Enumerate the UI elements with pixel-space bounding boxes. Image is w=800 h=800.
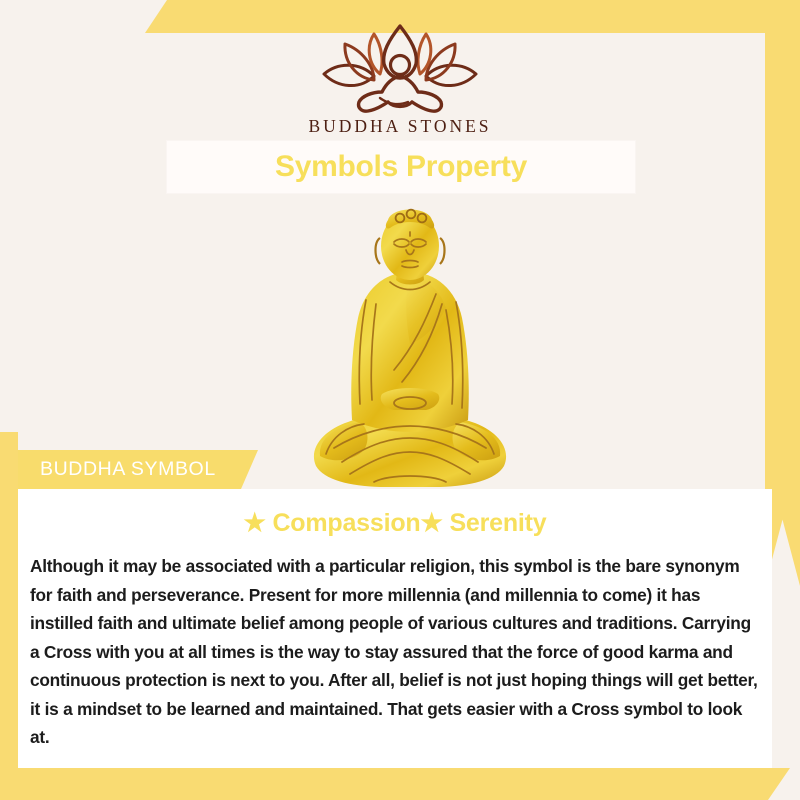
content-card: ★ Compassion★ Serenity Although it may b… [18,489,772,768]
decorative-left-bar [0,432,18,772]
hero-image [290,198,530,498]
section-ribbon-label: BUDDHA SYMBOL [40,458,216,481]
content-paragraph: Although it may be associated with a par… [30,552,760,752]
brand-logo: BUDDHA STONES [0,22,800,137]
title-banner: Symbols Property [167,141,635,193]
lotus-meditation-icon [312,22,488,114]
page-title: Symbols Property [275,150,527,184]
decorative-bottom-bar [0,768,790,800]
content-headline: ★ Compassion★ Serenity [18,508,772,538]
poster-canvas: BUDDHA STONES Symbols Property [0,0,800,800]
brand-name: BUDDHA STONES [308,116,491,137]
section-ribbon: BUDDHA SYMBOL [18,450,258,489]
seated-buddha-statue-icon [290,198,530,498]
